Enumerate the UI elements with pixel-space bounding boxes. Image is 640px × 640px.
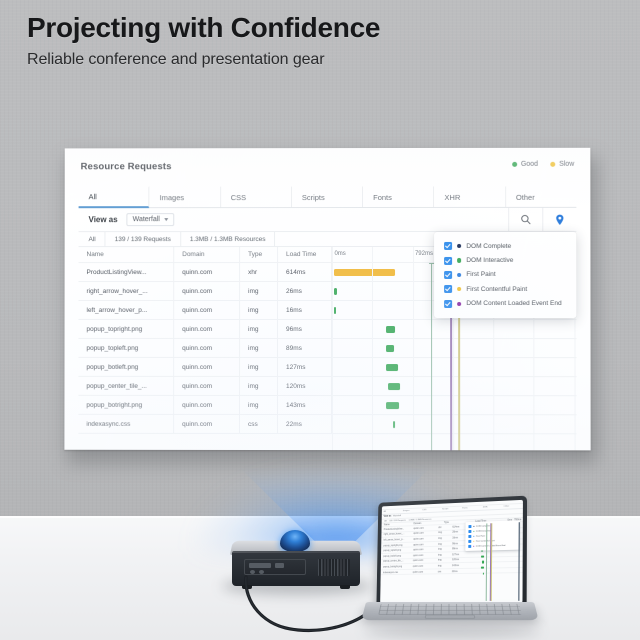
column-header-type: Type: [240, 247, 278, 262]
cell-name: popup_botleft.png: [78, 358, 174, 376]
cell-type: img: [240, 339, 278, 357]
checkbox-checked-icon[interactable]: [444, 271, 452, 279]
marker-filter-button[interactable]: [542, 208, 576, 231]
tab-images[interactable]: Images: [150, 186, 221, 207]
resource-requests-dashboard: Resource Requests GoodSlow AllImagesCSSS…: [64, 148, 590, 451]
projector-lens: [280, 530, 310, 552]
laptop-lid: AllImagesCSSScriptsFontsXHROtherView asW…: [376, 496, 527, 608]
metric-color-dot: [457, 273, 461, 277]
waterfall-bar: [386, 364, 398, 371]
tab-other[interactable]: Other: [506, 186, 576, 207]
cell-domain: quinn.com: [174, 263, 240, 281]
cell-waterfall: [332, 320, 576, 338]
tab-css[interactable]: CSS: [221, 186, 292, 207]
dropdown-item-4[interactable]: DOM Content Loaded Event End: [434, 296, 576, 310]
legend-dot-icon: [512, 162, 517, 167]
tab-fonts[interactable]: Fonts: [363, 186, 434, 207]
cell-load-time: 22ms: [278, 415, 332, 433]
page-title: Projecting with Confidence: [27, 12, 587, 44]
cell-waterfall: [332, 396, 577, 414]
cell-name: popup_center_tile_...: [78, 377, 174, 395]
cell-domain: quinn.com: [174, 396, 240, 414]
axis-tick-1: 792ms: [415, 251, 433, 257]
cell-domain: quinn.com: [174, 358, 240, 376]
laptop-mini-row: indexasync.cssquinn.comcss22ms: [381, 568, 523, 576]
tab-scripts[interactable]: Scripts: [292, 186, 363, 207]
view-as-select[interactable]: Waterfall: [127, 213, 174, 226]
dashboard-header: Resource Requests GoodSlow: [65, 148, 591, 186]
location-marker-icon: [554, 213, 565, 225]
status-legend: GoodSlow: [512, 161, 574, 168]
view-as-select-value: Waterfall: [133, 216, 160, 223]
column-header-name: Name: [79, 247, 175, 262]
checkbox-checked-icon[interactable]: [444, 285, 452, 293]
dropdown-item-label: DOM Complete: [466, 243, 511, 250]
dropdown-item-2[interactable]: First Paint: [434, 268, 576, 282]
projector-port-audio: [250, 570, 255, 574]
cell-name: popup_botright.png: [78, 396, 174, 414]
cell-waterfall: [332, 377, 577, 395]
table-row[interactable]: popup_topleft.pngquinn.comimg89ms: [78, 339, 576, 358]
cell-load-time: 614ms: [278, 263, 332, 281]
dropdown-item-0[interactable]: DOM Complete: [434, 239, 576, 253]
table-row[interactable]: popup_topright.pngquinn.comimg96ms: [78, 320, 576, 339]
laptop-base: [361, 602, 538, 620]
stat-item-0: All: [79, 232, 106, 246]
search-button[interactable]: [508, 208, 542, 231]
cell-load-time: 120ms: [278, 377, 332, 395]
cell-load-time: 127ms: [278, 358, 332, 376]
category-tabs[interactable]: AllImagesCSSScriptsFontsXHROther: [79, 186, 577, 208]
waterfall-bar: [334, 288, 336, 295]
cell-type: css: [240, 415, 278, 433]
laptop-screen: AllImagesCSSScriptsFontsXHROtherView asW…: [380, 500, 523, 603]
tab-all[interactable]: All: [79, 186, 150, 208]
checkbox-checked-icon[interactable]: [444, 242, 452, 250]
page-subtitle: Reliable conference and presentation gea…: [27, 51, 587, 69]
projector-vent-grille: [318, 559, 350, 576]
cell-name: popup_topright.png: [78, 320, 174, 338]
metric-color-dot: [457, 244, 461, 248]
laptop-shadow: [364, 624, 540, 638]
cell-type: img: [240, 358, 278, 376]
cell-waterfall: [332, 415, 577, 433]
waterfall-bar: [393, 421, 395, 428]
cell-domain: quinn.com: [174, 282, 240, 300]
metric-color-dot: [457, 287, 461, 291]
view-toolbar: View as Waterfall: [79, 208, 577, 232]
waterfall-bar: [334, 307, 336, 314]
cell-load-time: 16ms: [278, 301, 332, 319]
column-header-domain: Domain: [174, 247, 240, 262]
table-row[interactable]: popup_botright.pngquinn.comimg143ms: [78, 396, 576, 415]
laptop-keyboard[interactable]: [378, 604, 521, 614]
heading-block: Projecting with Confidence Reliable conf…: [27, 12, 587, 69]
waterfall-bar: [386, 326, 395, 333]
waterfall-bar: [386, 345, 395, 352]
dropdown-item-1[interactable]: DOM Interactive: [434, 253, 576, 267]
metrics-filter-dropdown[interactable]: DOM CompleteDOM InteractiveFirst PaintFi…: [434, 232, 576, 318]
cell-domain: quinn.com: [174, 415, 240, 433]
laptop-trackpad[interactable]: [425, 615, 474, 619]
checkbox-checked-icon[interactable]: [444, 300, 452, 308]
cell-load-time: 26ms: [278, 282, 332, 300]
cell-load-time: 143ms: [278, 396, 332, 414]
laptop-mini-dashboard: AllImagesCSSScriptsFontsXHROtherView asW…: [380, 500, 523, 603]
cell-type: img: [240, 301, 278, 319]
cell-domain: quinn.com: [174, 320, 240, 338]
projector-port-hdmi: [249, 563, 271, 568]
legend-dot-icon: [550, 162, 555, 167]
cell-name: ProductListingView...: [79, 263, 175, 281]
projector-port-power: [259, 570, 264, 574]
cell-domain: quinn.com: [174, 339, 240, 357]
projector-port-usb: [275, 563, 284, 568]
legend-item-good: Good: [512, 161, 538, 168]
stat-item-2: 1.3MB / 1.3MB Resources: [181, 232, 276, 246]
metric-color-dot: [457, 302, 461, 306]
laptop-mini-dropdown: DOM CompleteDOM InteractiveFirst PaintFi…: [465, 520, 519, 551]
cell-domain: quinn.com: [174, 377, 240, 395]
cell-type: img: [240, 396, 278, 414]
view-as-label: View as: [89, 215, 118, 224]
desk-edge: [0, 516, 640, 518]
cell-waterfall: [332, 339, 577, 357]
chevron-down-icon: [164, 218, 168, 221]
cell-name: left_arrow_hover_p...: [78, 301, 174, 319]
legend-label: Slow: [559, 161, 574, 168]
stat-item-1: 139 / 139 Requests: [106, 232, 181, 246]
cell-load-time: 96ms: [278, 320, 332, 338]
waterfall-bar: [388, 383, 399, 390]
cell-type: img: [240, 282, 278, 300]
metric-color-dot: [457, 258, 461, 262]
legend-item-slow: Slow: [550, 161, 574, 168]
laptop-device: AllImagesCSSScriptsFontsXHROtherView asW…: [358, 498, 544, 640]
dropdown-item-3[interactable]: First Contentful Paint: [434, 282, 576, 296]
dropdown-item-label: First Contentful Paint: [466, 286, 527, 293]
legend-label: Good: [521, 161, 538, 168]
cell-name: right_arrow_hover_...: [78, 282, 174, 300]
toolbar-actions: [508, 208, 576, 231]
projection-screen: Resource Requests GoodSlow AllImagesCSSS…: [64, 148, 590, 451]
dropdown-item-label: DOM Interactive: [466, 257, 513, 264]
cell-type: xhr: [240, 263, 278, 281]
checkbox-checked-icon[interactable]: [444, 257, 452, 265]
waterfall-bar: [386, 402, 400, 409]
cell-waterfall: [332, 358, 577, 376]
cell-type: img: [240, 377, 278, 395]
cell-type: img: [240, 320, 278, 338]
tab-xhr[interactable]: XHR: [434, 186, 505, 207]
cell-domain: quinn.com: [174, 301, 240, 319]
waterfall-bar: [334, 269, 395, 276]
table-row[interactable]: popup_botleft.pngquinn.comimg127ms: [78, 358, 576, 377]
projector-body-highlight: [232, 551, 360, 553]
dropdown-item-label: DOM Content Loaded Event End: [466, 300, 561, 307]
cell-name: popup_topleft.png: [78, 339, 174, 357]
search-icon: [520, 214, 531, 225]
axis-tick-0: 0ms: [334, 251, 345, 257]
column-header-load-time: Load Time: [278, 247, 332, 262]
table-row[interactable]: indexasync.cssquinn.comcss22ms: [78, 415, 576, 434]
projector-port-panel: [244, 559, 306, 575]
dashboard-title: Resource Requests: [81, 161, 172, 172]
cell-name: indexasync.css: [78, 415, 174, 433]
table-row[interactable]: popup_center_tile_...quinn.comimg120ms: [78, 377, 576, 396]
cell-load-time: 89ms: [278, 339, 332, 357]
dropdown-item-label: First Paint: [466, 271, 495, 278]
